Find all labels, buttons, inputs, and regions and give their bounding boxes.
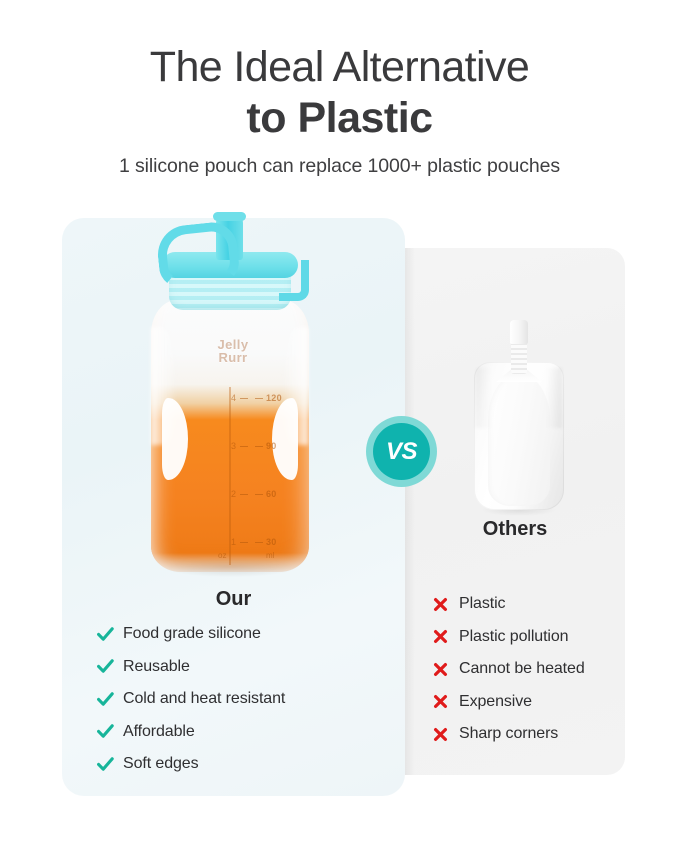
bottle-spout-lip: [213, 212, 246, 221]
list-item: Expensive: [433, 686, 628, 719]
page-title-line-2: to Plastic: [0, 92, 679, 144]
vs-label: VS: [386, 438, 417, 466]
list-item: Reusable: [97, 651, 397, 684]
check-icon: [97, 757, 123, 772]
bottle-cap-side-tab: [279, 260, 309, 301]
feature-label: Plastic pollution: [459, 628, 568, 646]
list-item: Food grade silicone: [97, 618, 397, 651]
cross-icon: [433, 727, 459, 742]
check-icon: [97, 724, 123, 739]
feature-label: Expensive: [459, 693, 532, 711]
check-icon: [97, 659, 123, 674]
graduation-mark: 4 120: [214, 393, 298, 404]
graduation-mark: 2 60: [214, 489, 298, 500]
list-item: Soft edges: [97, 748, 397, 781]
bottle-measurement-scale: 4 120 3 90 2 60 1 30 oz ml: [214, 393, 298, 555]
graduation-mark: 1 30: [214, 537, 298, 548]
graduation-oz: 3: [214, 441, 236, 452]
graduation-tick: [240, 542, 248, 543]
graduation-tick: [255, 446, 263, 447]
vs-badge: VS: [366, 416, 437, 487]
graduation-ml: 60: [266, 489, 277, 500]
page-subtitle: 1 silicone pouch can replace 1000+ plast…: [0, 153, 679, 179]
pouch-gusset: [488, 374, 550, 506]
list-item: Cannot be heated: [433, 653, 628, 686]
graduation-ml: 30: [266, 537, 277, 548]
feature-label: Cannot be heated: [459, 660, 585, 678]
list-item: Sharp corners: [433, 718, 628, 751]
bottle-brand-emboss: Jelly Rurr: [198, 338, 268, 364]
feature-label: Sharp corners: [459, 725, 558, 743]
plastic-pouch-product-image: [466, 318, 572, 513]
cross-icon: [433, 694, 459, 709]
feature-label: Plastic: [459, 595, 505, 613]
graduation-tick: [255, 494, 263, 495]
bottle-loop-handle: [155, 220, 241, 290]
graduation-ml: 90: [266, 441, 277, 452]
list-item: Plastic pollution: [433, 621, 628, 654]
graduation-oz: 1: [214, 537, 236, 548]
others-column-heading: Others: [405, 518, 625, 541]
unit-oz-label: oz: [218, 551, 226, 560]
feature-label: Food grade silicone: [123, 625, 261, 643]
pouch-fold-right: [546, 368, 562, 428]
graduation-tick: [240, 446, 248, 447]
our-column-heading: Our: [62, 588, 405, 611]
cross-icon: [433, 662, 459, 677]
graduation-tick: [240, 494, 248, 495]
our-feature-list: Food grade silicone Reusable Cold and he…: [97, 618, 397, 781]
pouch-cap: [510, 320, 528, 344]
unit-ml-label: ml: [266, 551, 274, 560]
check-icon: [97, 692, 123, 707]
check-icon: [97, 627, 123, 642]
vs-badge-inner: VS: [373, 423, 430, 480]
feature-label: Cold and heat resistant: [123, 690, 285, 708]
pouch-neck-threads: [511, 340, 527, 374]
graduation-oz: 2: [214, 489, 236, 500]
list-item: Plastic: [433, 588, 628, 621]
brand-line-2: Rurr: [218, 350, 247, 365]
pouch-fold-left: [476, 368, 492, 428]
graduation-oz: 4: [214, 393, 236, 404]
others-feature-list: Plastic Plastic pollution Cannot be heat…: [433, 588, 628, 751]
graduation-tick: [240, 398, 248, 399]
silicone-pouch-product-image: Jelly Rurr 4 120 3 90 2 60 1 30 oz: [122, 205, 337, 580]
feature-label: Affordable: [123, 723, 195, 741]
header: The Ideal Alternative to Plastic 1 silic…: [0, 42, 679, 179]
graduation-ml: 120: [266, 393, 282, 404]
page-title-line-1: The Ideal Alternative: [0, 42, 679, 92]
feature-label: Soft edges: [123, 755, 199, 773]
list-item: Cold and heat resistant: [97, 683, 397, 716]
cross-icon: [433, 629, 459, 644]
list-item: Affordable: [97, 716, 397, 749]
cross-icon: [433, 597, 459, 612]
graduation-mark: 3 90: [214, 441, 298, 452]
graduation-tick: [255, 398, 263, 399]
feature-label: Reusable: [123, 658, 190, 676]
graduation-tick: [255, 542, 263, 543]
